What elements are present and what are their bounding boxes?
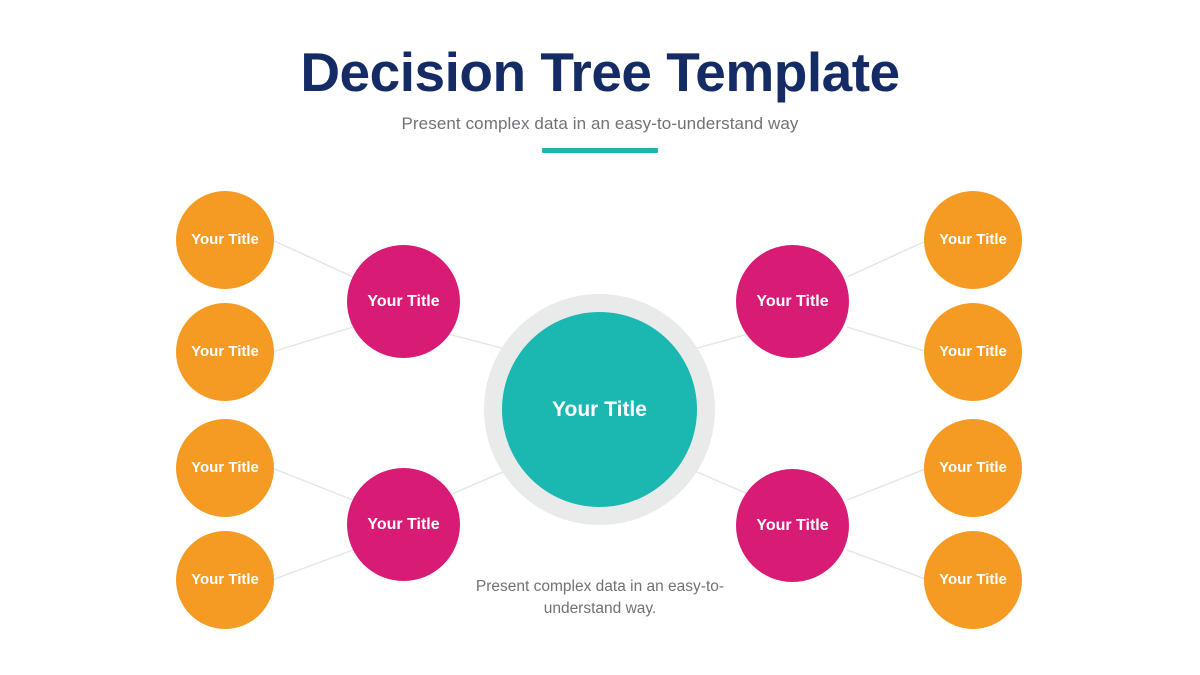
leaf-node-left-2[interactable]: Your Title xyxy=(176,303,274,401)
connector-branch-bottom-left-to-leaf-3 xyxy=(272,468,353,500)
leaf-node-right-4[interactable]: Your Title xyxy=(924,531,1022,629)
connector-branch-top-right-to-leaf-2 xyxy=(847,327,928,352)
bottom-caption: Present complex data in an easy-to-under… xyxy=(450,576,750,621)
branch-node-bottom-right[interactable]: Your Title xyxy=(736,469,849,582)
leaf-node-left-3[interactable]: Your Title xyxy=(176,419,274,517)
decision-tree-diagram: Your Title Your Title Your Title Your Ti… xyxy=(0,0,1200,675)
leaf-node-right-3[interactable]: Your Title xyxy=(924,419,1022,517)
connector-branch-top-right-to-leaf-1 xyxy=(847,240,928,277)
connector-branch-top-left-to-leaf-2 xyxy=(272,327,353,352)
leaf-node-left-4[interactable]: Your Title xyxy=(176,531,274,629)
connector-branch-bottom-left-to-leaf-4 xyxy=(272,550,353,580)
leaf-node-right-2[interactable]: Your Title xyxy=(924,303,1022,401)
connector-branch-bottom-right-to-leaf-4 xyxy=(847,550,928,580)
leaf-node-right-1[interactable]: Your Title xyxy=(924,191,1022,289)
connector-branch-bottom-right-to-leaf-3 xyxy=(847,468,928,500)
hub-node[interactable]: Your Title xyxy=(502,312,697,507)
slide-canvas: Decision Tree Template Present complex d… xyxy=(0,0,1200,675)
leaf-node-left-1[interactable]: Your Title xyxy=(176,191,274,289)
connector-branch-top-left-to-leaf-1 xyxy=(272,240,353,277)
branch-node-top-left[interactable]: Your Title xyxy=(347,245,460,358)
branch-node-top-right[interactable]: Your Title xyxy=(736,245,849,358)
branch-node-bottom-left[interactable]: Your Title xyxy=(347,468,460,581)
